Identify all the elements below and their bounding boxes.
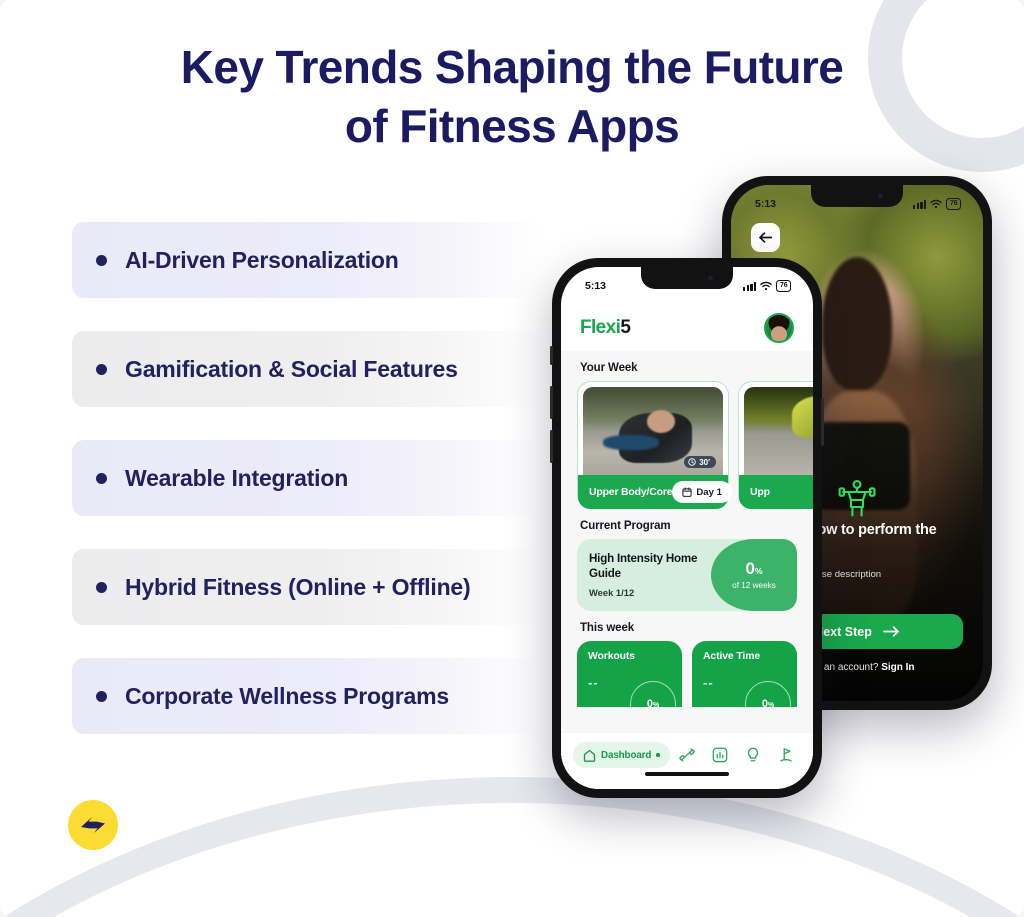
home-indicator[interactable] [645, 772, 729, 776]
percent-value: 0 [745, 559, 754, 578]
stat-card[interactable]: Active Time -- 0% [692, 641, 797, 707]
list-item-label: Gamification & Social Features [125, 356, 458, 383]
workout-card-footer: Upp [739, 475, 813, 509]
bullet-icon [96, 473, 107, 484]
workout-card-footer: Upper Body/Core Day 1 [578, 475, 728, 509]
app-header: Flexi5 [561, 305, 813, 351]
trend-list: AI-Driven Personalization Gamification &… [72, 222, 542, 734]
workout-card[interactable]: 30' Upper Body/Core Day 1 [577, 381, 729, 509]
nav-item-stats[interactable] [705, 746, 736, 764]
week-workout-carousel[interactable]: 30' Upper Body/Core Day 1 [561, 381, 813, 509]
current-program-text: High Intensity Home Guide Week 1/12 [577, 552, 711, 597]
cellular-signal-icon [743, 282, 756, 291]
phone-volume-down-button[interactable] [550, 430, 553, 463]
section-title-this-week: This week [561, 611, 813, 641]
app-logo-dark-part: 5 [620, 317, 630, 338]
phone-power-button[interactable] [821, 398, 824, 446]
bottom-navigation[interactable]: Dashboard [561, 733, 813, 789]
nav-item-goals[interactable] [770, 746, 801, 764]
back-button[interactable] [751, 223, 780, 252]
bullet-icon [96, 582, 107, 593]
app-logo-green-part: Flexi [580, 317, 620, 338]
list-item-label: Hybrid Fitness (Online + Offline) [125, 574, 470, 601]
stat-card[interactable]: Workouts -- 0% [577, 641, 682, 707]
logo-arrow-glyph-icon [78, 813, 108, 837]
bullet-icon [96, 691, 107, 702]
stat-name: Workouts [588, 651, 682, 662]
next-step-label: Next Step [814, 625, 872, 639]
list-item-label: Corporate Wellness Programs [125, 683, 449, 710]
workout-thumbnail [744, 387, 813, 475]
stat-name: Active Time [703, 651, 797, 662]
dashboard-content[interactable]: Your Week [561, 351, 813, 789]
front-camera-icon [878, 194, 883, 199]
current-program-name: High Intensity Home Guide [589, 552, 699, 580]
workout-day-label: Day 1 [696, 487, 722, 498]
brand-logo-badge [68, 800, 118, 850]
bullet-icon [96, 364, 107, 375]
bullet-icon [96, 255, 107, 266]
nav-active-dot [656, 753, 660, 757]
phone-volume-up-button[interactable] [550, 386, 553, 419]
list-item[interactable]: Corporate Wellness Programs [72, 658, 542, 734]
current-program-progress: 0% of 12 weeks [711, 539, 797, 611]
arrow-left-icon [758, 231, 773, 244]
app-logo: Flexi5 [580, 317, 630, 339]
wifi-icon [760, 281, 772, 291]
stat-percent-unit: % [653, 702, 659, 707]
list-item[interactable]: AI-Driven Personalization [72, 222, 542, 298]
percent-unit: % [755, 566, 763, 576]
avatar[interactable] [764, 313, 794, 343]
front-camera-icon [708, 276, 713, 281]
flag-icon [777, 746, 795, 764]
page-title-line-1: Key Trends Shaping the Future [0, 38, 1024, 97]
current-program-of-label: of 12 weeks [732, 581, 776, 590]
nav-dashboard-label: Dashboard [601, 750, 651, 761]
stat-percent-unit: % [768, 702, 774, 707]
status-time: 5:13 [585, 280, 606, 292]
wifi-icon [930, 199, 942, 209]
workout-duration-badge: 30' [684, 456, 716, 468]
clock-icon [688, 458, 696, 466]
workout-thumbnail: 30' [583, 387, 723, 475]
section-title-current-program: Current Program [561, 509, 813, 539]
lightbulb-icon [744, 746, 762, 764]
phone-dashboard-screen: 5:13 76 Flexi5 Your Week [561, 267, 813, 789]
phone-notch [641, 267, 733, 289]
signin-link[interactable]: Sign In [881, 662, 914, 673]
current-program-week: Week 1/12 [589, 587, 699, 598]
nav-item-tips[interactable] [737, 746, 768, 764]
phone-notch [811, 185, 903, 207]
list-item-label: AI-Driven Personalization [125, 247, 399, 274]
list-item[interactable]: Wearable Integration [72, 440, 542, 516]
workout-name: Upp [750, 486, 770, 498]
page-title-line-2: of Fitness Apps [0, 97, 1024, 156]
workout-card[interactable]: Upp [738, 381, 813, 509]
status-time: 5:13 [755, 198, 776, 210]
infographic-canvas: Key Trends Shaping the Future of Fitness… [0, 0, 1024, 917]
decorative-arc-bottom [0, 777, 1024, 917]
workout-name: Upper Body/Core [589, 486, 672, 498]
page-title: Key Trends Shaping the Future of Fitness… [0, 38, 1024, 156]
cellular-signal-icon [913, 200, 926, 209]
nav-item-workouts[interactable] [672, 746, 703, 764]
nav-item-dashboard[interactable]: Dashboard [573, 742, 670, 768]
phone-dashboard: 5:13 76 Flexi5 Your Week [552, 258, 822, 798]
dumbbell-icon [678, 746, 696, 764]
weightlifter-icon [835, 477, 879, 521]
current-program-percent: 0% [745, 560, 762, 577]
this-week-stats: Workouts -- 0% Active Time -- 0% [561, 641, 813, 707]
list-item-label: Wearable Integration [125, 465, 348, 492]
workout-day-pill[interactable]: Day 1 [672, 481, 732, 503]
calendar-icon [682, 487, 692, 497]
workout-duration-text: 30' [699, 458, 710, 467]
list-item[interactable]: Hybrid Fitness (Online + Offline) [72, 549, 542, 625]
arrow-right-icon [883, 626, 900, 637]
phone-silent-switch[interactable] [550, 346, 553, 365]
section-title-your-week: Your Week [561, 351, 813, 381]
battery-level: 76 [776, 280, 791, 292]
current-program-card[interactable]: High Intensity Home Guide Week 1/12 0% o… [577, 539, 797, 611]
home-icon [583, 749, 596, 762]
bar-chart-icon [711, 746, 729, 764]
battery-level: 76 [946, 198, 961, 210]
list-item[interactable]: Gamification & Social Features [72, 331, 542, 407]
